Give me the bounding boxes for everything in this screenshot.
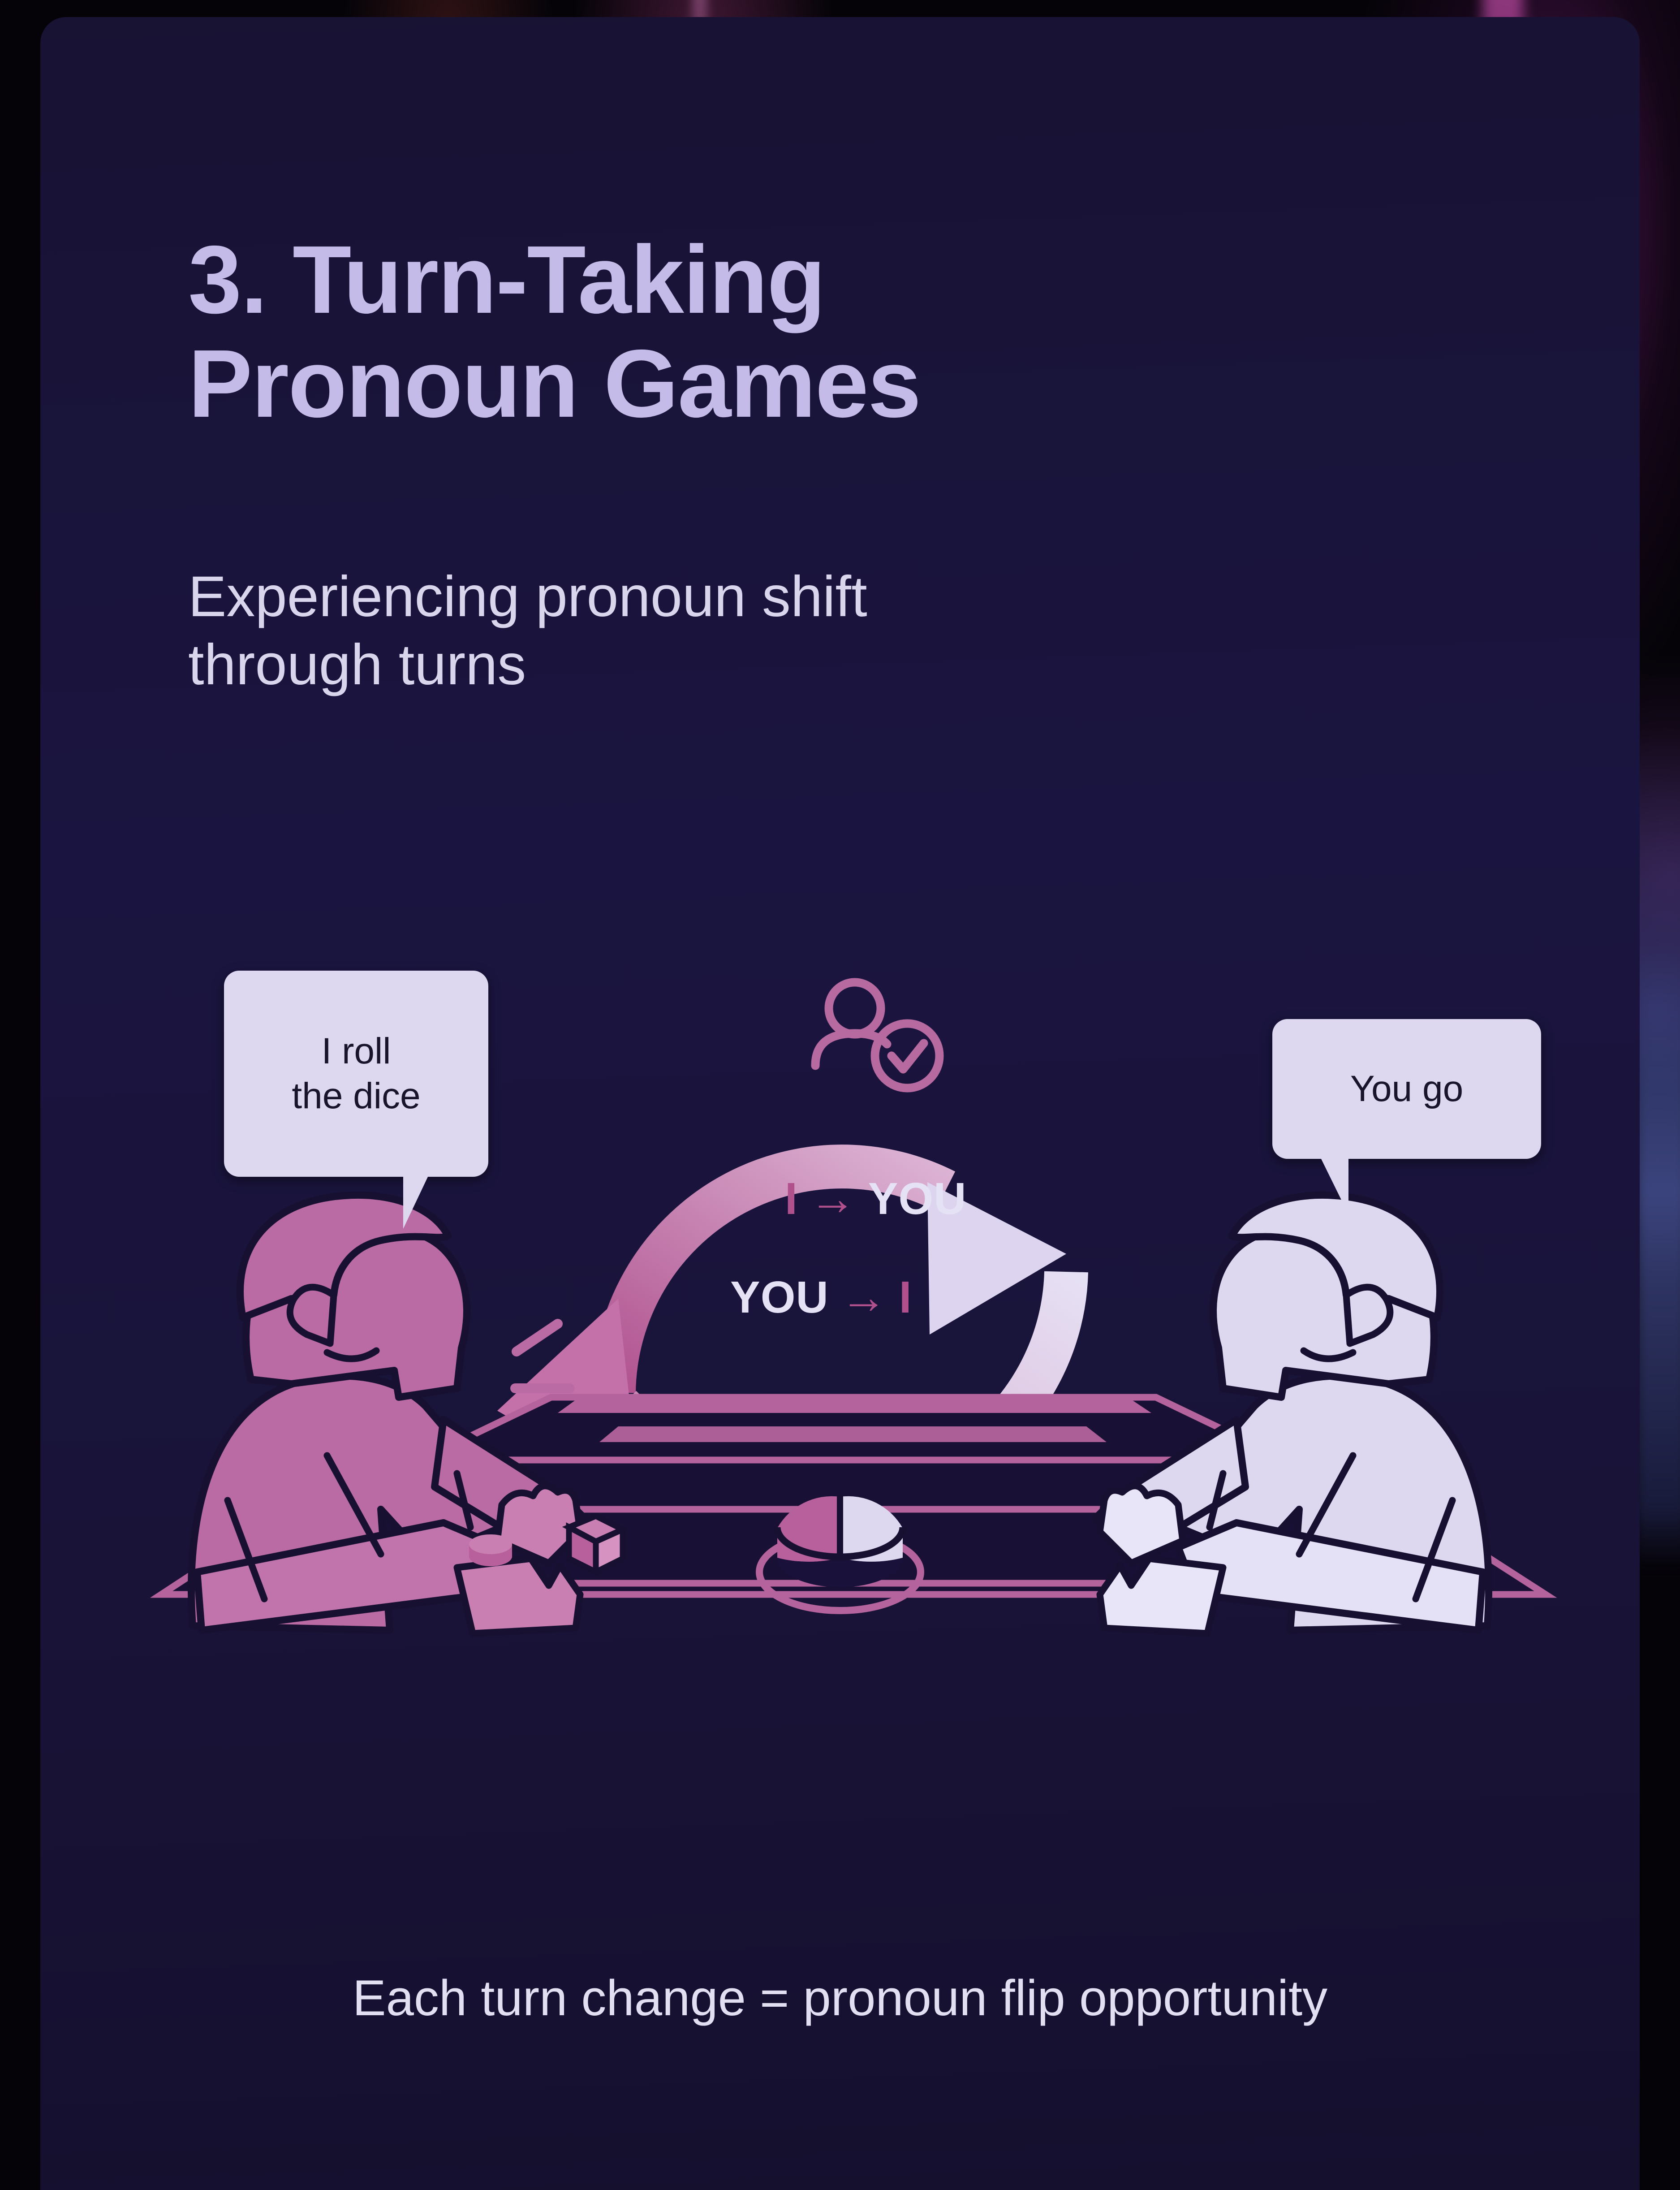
bubble-left-line-1: I roll [322, 1031, 391, 1071]
cycle-row-1-from: I [785, 1173, 798, 1225]
game-chip [469, 1534, 512, 1566]
game-piece-cube [569, 1516, 623, 1572]
cycle-row-1-to: YOU [868, 1173, 967, 1225]
pronoun-cycle-row-1: I → YOU [785, 1172, 967, 1226]
backdrop-streak [1635, 941, 1680, 1568]
footer-caption: Each turn change = pronoun flip opportun… [40, 1969, 1640, 2027]
cycle-row-2-from: YOU [730, 1272, 829, 1323]
bubble-left-line-2: the dice [292, 1076, 420, 1116]
bubble-tail [403, 1176, 428, 1229]
arrow-right-icon: → [798, 1172, 868, 1226]
pronoun-cycle-row-2: YOU → I [730, 1271, 912, 1324]
slide-card: 3. Turn-Taking Pronoun Games Experiencin… [40, 17, 1640, 2190]
page-title: 3. Turn-Taking Pronoun Games [188, 228, 1398, 436]
speech-bubble-right: You go [1272, 1019, 1541, 1159]
bubble-right-text: You go [1350, 1067, 1463, 1111]
cycle-row-2-to: I [899, 1272, 912, 1323]
page-subtitle: Experiencing pronoun shift through turns [188, 563, 1308, 700]
title-line-2: Pronoun Games [188, 329, 921, 437]
title-line-1: 3. Turn-Taking [188, 225, 825, 333]
arrow-right-icon: → [829, 1271, 899, 1324]
bubble-tail [1321, 1158, 1348, 1214]
subtitle-line-2: through turns [188, 633, 526, 697]
person-check-icon [815, 982, 939, 1088]
speech-bubble-left: I roll the dice [224, 971, 488, 1177]
subtitle-line-1: Experiencing pronoun shift [188, 565, 867, 629]
